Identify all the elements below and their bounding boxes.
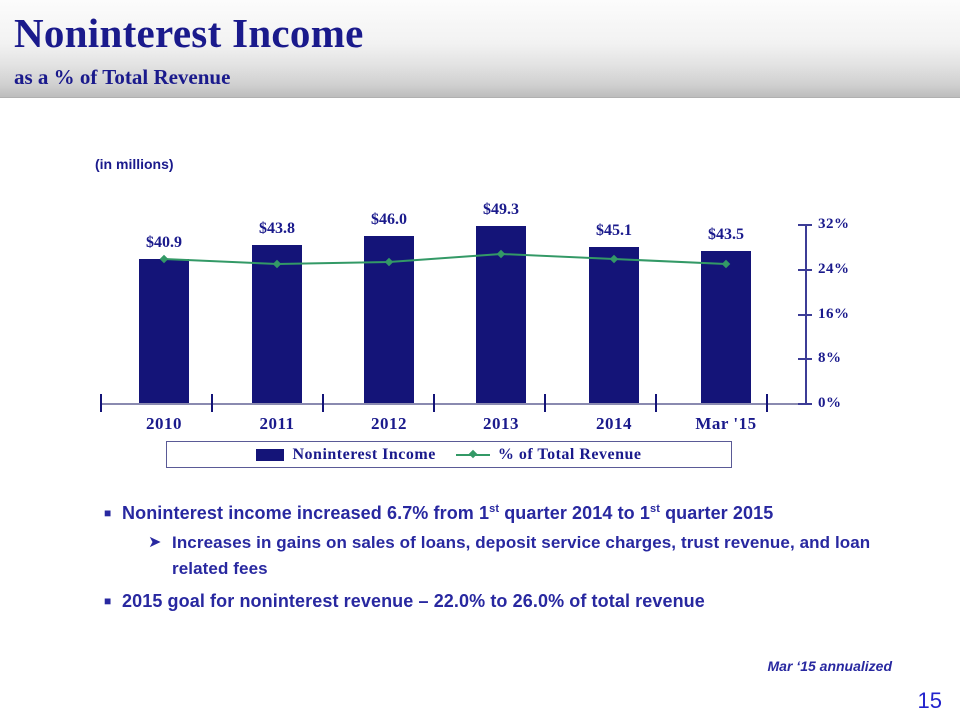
x-axis-label-mar-15: Mar '15 — [671, 414, 781, 434]
legend-label-noninterest-income: Noninterest Income — [292, 446, 435, 464]
bullet-1-sup-2: st — [650, 503, 660, 515]
bar-2012 — [364, 236, 414, 403]
x-axis-label-2013: 2013 — [446, 414, 556, 434]
x-axis-label-2010: 2010 — [109, 414, 219, 434]
bullet-text-1: Noninterest income increased 6.7% from 1… — [122, 500, 773, 526]
y-axis-tick — [798, 403, 812, 405]
y-axis-label-32pct: 32% — [818, 216, 850, 233]
x-axis-tick — [766, 394, 768, 412]
y-axis-tick — [798, 358, 812, 360]
legend-entry-percent-of-total-revenue: % of Total Revenue — [456, 446, 642, 464]
slide-header: Noninterest Income as a % of Total Reven… — [0, 0, 960, 98]
sub-bullet-text-1: Increases in gains on sales of loans, de… — [172, 530, 900, 582]
x-axis-label-2012: 2012 — [334, 414, 444, 434]
bullet-text-2: 2015 goal for noninterest revenue – 22.0… — [122, 588, 705, 614]
square-bullet-icon: ■ — [100, 500, 122, 526]
legend-entry-noninterest-income: Noninterest Income — [256, 446, 435, 464]
x-axis-tick — [655, 394, 657, 412]
bullet-1-part-post: quarter 2015 — [660, 503, 773, 523]
x-axis-tick — [100, 394, 102, 412]
y-axis-tick — [798, 224, 812, 226]
x-axis-label-2011: 2011 — [222, 414, 332, 434]
bar-value-label-2012: $46.0 — [339, 211, 439, 229]
bar-value-label-2010: $40.9 — [114, 234, 214, 252]
bullet-item-2: ■ 2015 goal for noninterest revenue – 22… — [100, 588, 900, 614]
x-axis-label-2014: 2014 — [559, 414, 669, 434]
square-bullet-icon: ■ — [100, 588, 122, 614]
page-number: 15 — [918, 688, 942, 714]
bullet-1-part-pre: Noninterest income increased 6.7% from 1 — [122, 503, 489, 523]
bar-value-label-2013: $49.3 — [451, 201, 551, 219]
y-axis-label-16pct: 16% — [818, 306, 850, 323]
y-axis-label-0pct: 0% — [818, 395, 842, 412]
bar-2014 — [589, 247, 639, 403]
x-axis-tick — [322, 394, 324, 412]
x-axis-line — [100, 403, 800, 405]
bar-value-label-2014: $45.1 — [564, 222, 664, 240]
x-axis-tick — [433, 394, 435, 412]
chart-plot-area: $40.9 $43.8 $46.0 $49.3 $45.1 $43.5 2010… — [0, 98, 960, 488]
legend-line-icon — [456, 449, 490, 461]
chart-legend: Noninterest Income % of Total Revenue — [166, 441, 732, 468]
y-axis-tick — [798, 314, 812, 316]
x-axis-tick — [544, 394, 546, 412]
page-title: Noninterest Income — [14, 8, 364, 58]
sub-bullet-item-1: ➤ Increases in gains on sales of loans, … — [148, 530, 900, 582]
footnote: Mar ‘15 annualized — [768, 658, 892, 674]
bar-2013 — [476, 226, 526, 403]
bar-2011 — [252, 245, 302, 403]
y-axis-tick — [798, 269, 812, 271]
y-axis-label-24pct: 24% — [818, 261, 850, 278]
bar-2010 — [139, 259, 189, 403]
page-subtitle: as a % of Total Revenue — [14, 64, 230, 90]
legend-label-percent-of-total-revenue: % of Total Revenue — [498, 446, 642, 464]
y-axis-label-8pct: 8% — [818, 350, 842, 367]
legend-square-icon — [256, 449, 284, 461]
arrow-bullet-icon: ➤ — [148, 530, 172, 556]
bullet-1-sup-1: st — [489, 503, 499, 515]
bullet-list: ■ Noninterest income increased 6.7% from… — [100, 500, 900, 616]
bar-value-label-mar-15: $43.5 — [676, 226, 776, 244]
bar-mar-15 — [701, 251, 751, 403]
bar-value-label-2011: $43.8 — [227, 220, 327, 238]
bullet-1-part-mid: quarter 2014 to 1 — [499, 503, 650, 523]
chart-container: (in millions) — [0, 98, 960, 488]
x-axis-tick — [211, 394, 213, 412]
bullet-item-1: ■ Noninterest income increased 6.7% from… — [100, 500, 900, 526]
